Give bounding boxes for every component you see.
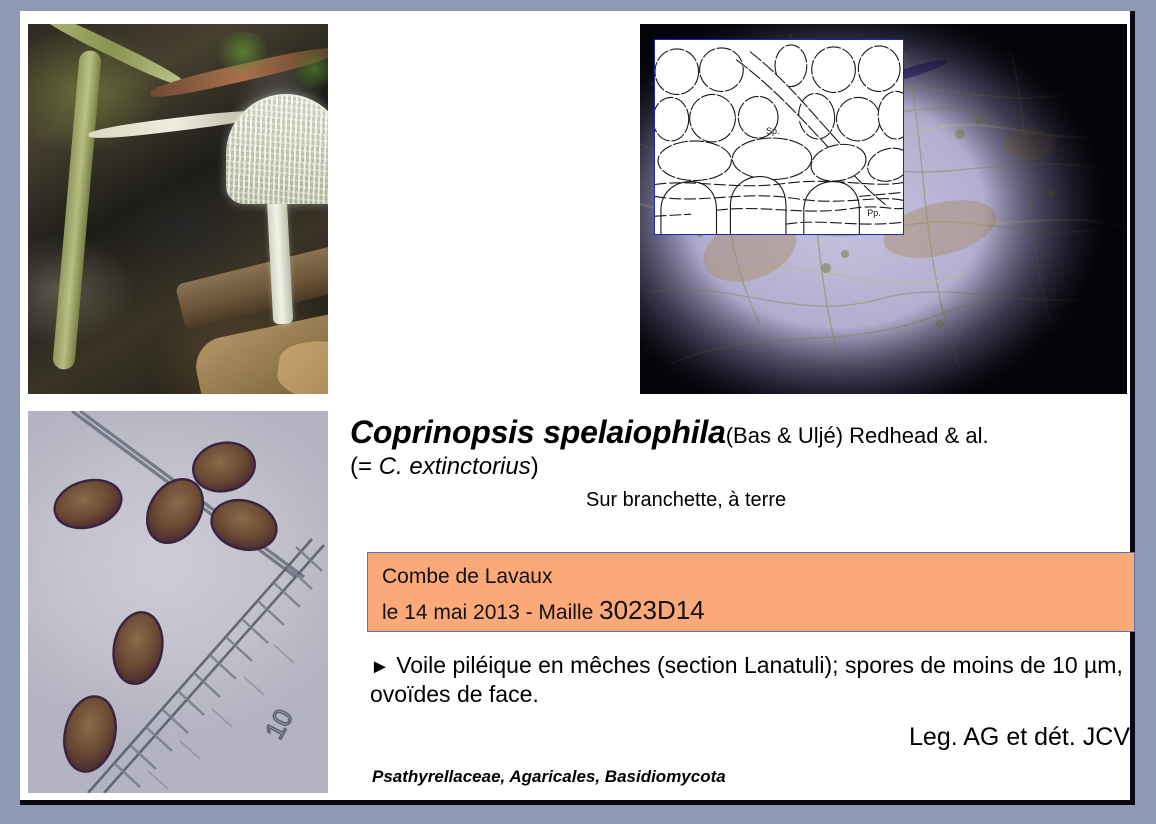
synonym-prefix: (= [350,453,379,480]
drawing-label-sp: Sp. [766,126,779,136]
species-heading: Coprinopsis spelaiophila(Bas & Uljé) Red… [350,415,1135,451]
collector-determiner-credit: Leg. AG et dét. JCV [370,723,1156,752]
synonym-name: C. extinctorius [379,453,531,480]
species-authority: (Bas & Uljé) Redhead & al. [726,423,989,448]
poster-card: Sp. Pp. [20,11,1135,805]
micrometer-scale-label: 10 [259,704,299,744]
collection-date: le 14 mai 2013 - Maille [382,601,599,624]
locality-date-line: le 14 mai 2013 - Maille 3023D14 [382,592,1134,630]
remark-body: Voile piléique en mêches (section Lanatu… [370,652,1123,707]
moss-patch-2 [290,50,328,88]
grass-stem-shape [52,50,102,371]
locality-box: Combe de Lavaux le 14 mai 2013 - Maille … [367,552,1135,632]
microscopy-spores-with-micrometer-photo: 10 [28,411,328,793]
bullet-arrow-icon: ► [370,656,390,678]
twig-shape [37,24,187,90]
pileipellis-line-drawing: Sp. Pp. [654,39,904,235]
taxonomy-line: Psathyrellaceae, Agaricales, Basidiomyco… [372,767,726,787]
synonym-line: (= C. extinctorius) [350,453,1135,481]
mushroom-in-habitat-photo [28,24,328,394]
description-text-column: Coprinopsis spelaiophila(Bas & Uljé) Red… [350,415,1135,512]
locality-name: Combe de Lavaux [382,562,1134,592]
synonym-suffix: ) [531,453,539,480]
moss-patch [213,32,273,72]
drawing-label-pp: Pp. [867,208,880,218]
species-name: Coprinopsis spelaiophila [350,414,726,450]
wood-debris-shape [175,244,328,330]
remark-text: ► Voile piléique en mêches (section Lana… [370,651,1130,709]
habitat-line: Sur branchette, à terre [350,489,1135,512]
grid-reference: 3023D14 [599,595,705,625]
